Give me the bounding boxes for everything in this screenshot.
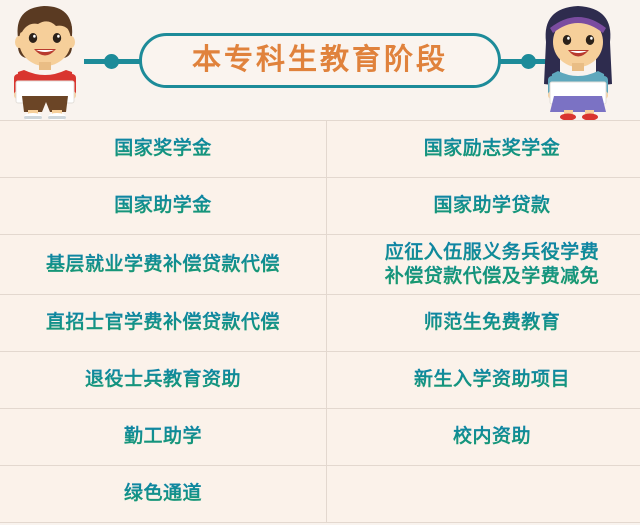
cell-label: 基层就业学费补偿贷款代偿	[4, 253, 322, 277]
table-row: 国家助学金 国家助学贷款	[0, 178, 640, 235]
table-cell-right[interactable]: 校内资助	[327, 409, 640, 466]
table-row: 勤工助学 校内资助	[0, 409, 640, 466]
table-cell-left[interactable]: 基层就业学费补偿贷款代偿	[0, 235, 327, 295]
infographic-root: 本专科生教育阶段	[0, 0, 640, 525]
table-cell-right-empty[interactable]	[327, 466, 640, 523]
table-cell-left[interactable]: 国家助学金	[0, 178, 327, 235]
cell-label: 绿色通道	[4, 482, 322, 506]
cell-label: 校内资助	[331, 425, 640, 449]
cell-label: 国家励志奖学金	[331, 137, 640, 161]
header-band: 本专科生教育阶段	[0, 0, 640, 120]
table-row: 退役士兵教育资助 新生入学资助项目	[0, 352, 640, 409]
cell-label: 国家奖学金	[4, 137, 322, 161]
table-cell-left[interactable]: 勤工助学	[0, 409, 327, 466]
benefits-table: 国家奖学金 国家励志奖学金 国家助学金 国家助学贷款 基层就业学费补偿贷款代偿 …	[0, 120, 640, 523]
table-row: 国家奖学金 国家励志奖学金	[0, 121, 640, 178]
table-cell-left[interactable]: 直招士官学费补偿贷款代偿	[0, 295, 327, 352]
cell-label: 退役士兵教育资助	[4, 368, 322, 392]
cell-label: 国家助学贷款	[331, 194, 640, 218]
table-row: 直招士官学费补偿贷款代偿 师范生免费教育	[0, 295, 640, 352]
table-row: 基层就业学费补偿贷款代偿 应征入伍服义务兵役学费补偿贷款代偿及学费减免	[0, 235, 640, 295]
cell-label: 直招士官学费补偿贷款代偿	[4, 311, 322, 335]
cell-label: 师范生免费教育	[331, 311, 640, 335]
table-cell-right[interactable]: 国家励志奖学金	[327, 121, 640, 178]
table-cell-left[interactable]: 退役士兵教育资助	[0, 352, 327, 409]
table-cell-left[interactable]: 国家奖学金	[0, 121, 327, 178]
table-cell-right[interactable]: 师范生免费教育	[327, 295, 640, 352]
title-pill: 本专科生教育阶段	[139, 33, 501, 88]
table-cell-right[interactable]: 应征入伍服义务兵役学费补偿贷款代偿及学费减免	[327, 235, 640, 295]
table-cell-right[interactable]: 国家助学贷款	[327, 178, 640, 235]
table-row: 绿色通道	[0, 466, 640, 523]
table-cell-left[interactable]: 绿色通道	[0, 466, 327, 523]
table-cell-right[interactable]: 新生入学资助项目	[327, 352, 640, 409]
cell-label: 应征入伍服义务兵役学费补偿贷款代偿及学费减免	[331, 241, 640, 287]
cell-label: 新生入学资助项目	[331, 368, 640, 392]
girl-student-holding-sign-icon	[530, 0, 640, 120]
page-title: 本专科生教育阶段	[192, 46, 448, 75]
cell-label: 勤工助学	[4, 425, 322, 449]
cell-label: 国家助学金	[4, 194, 322, 218]
connector-dot-left	[104, 54, 119, 69]
